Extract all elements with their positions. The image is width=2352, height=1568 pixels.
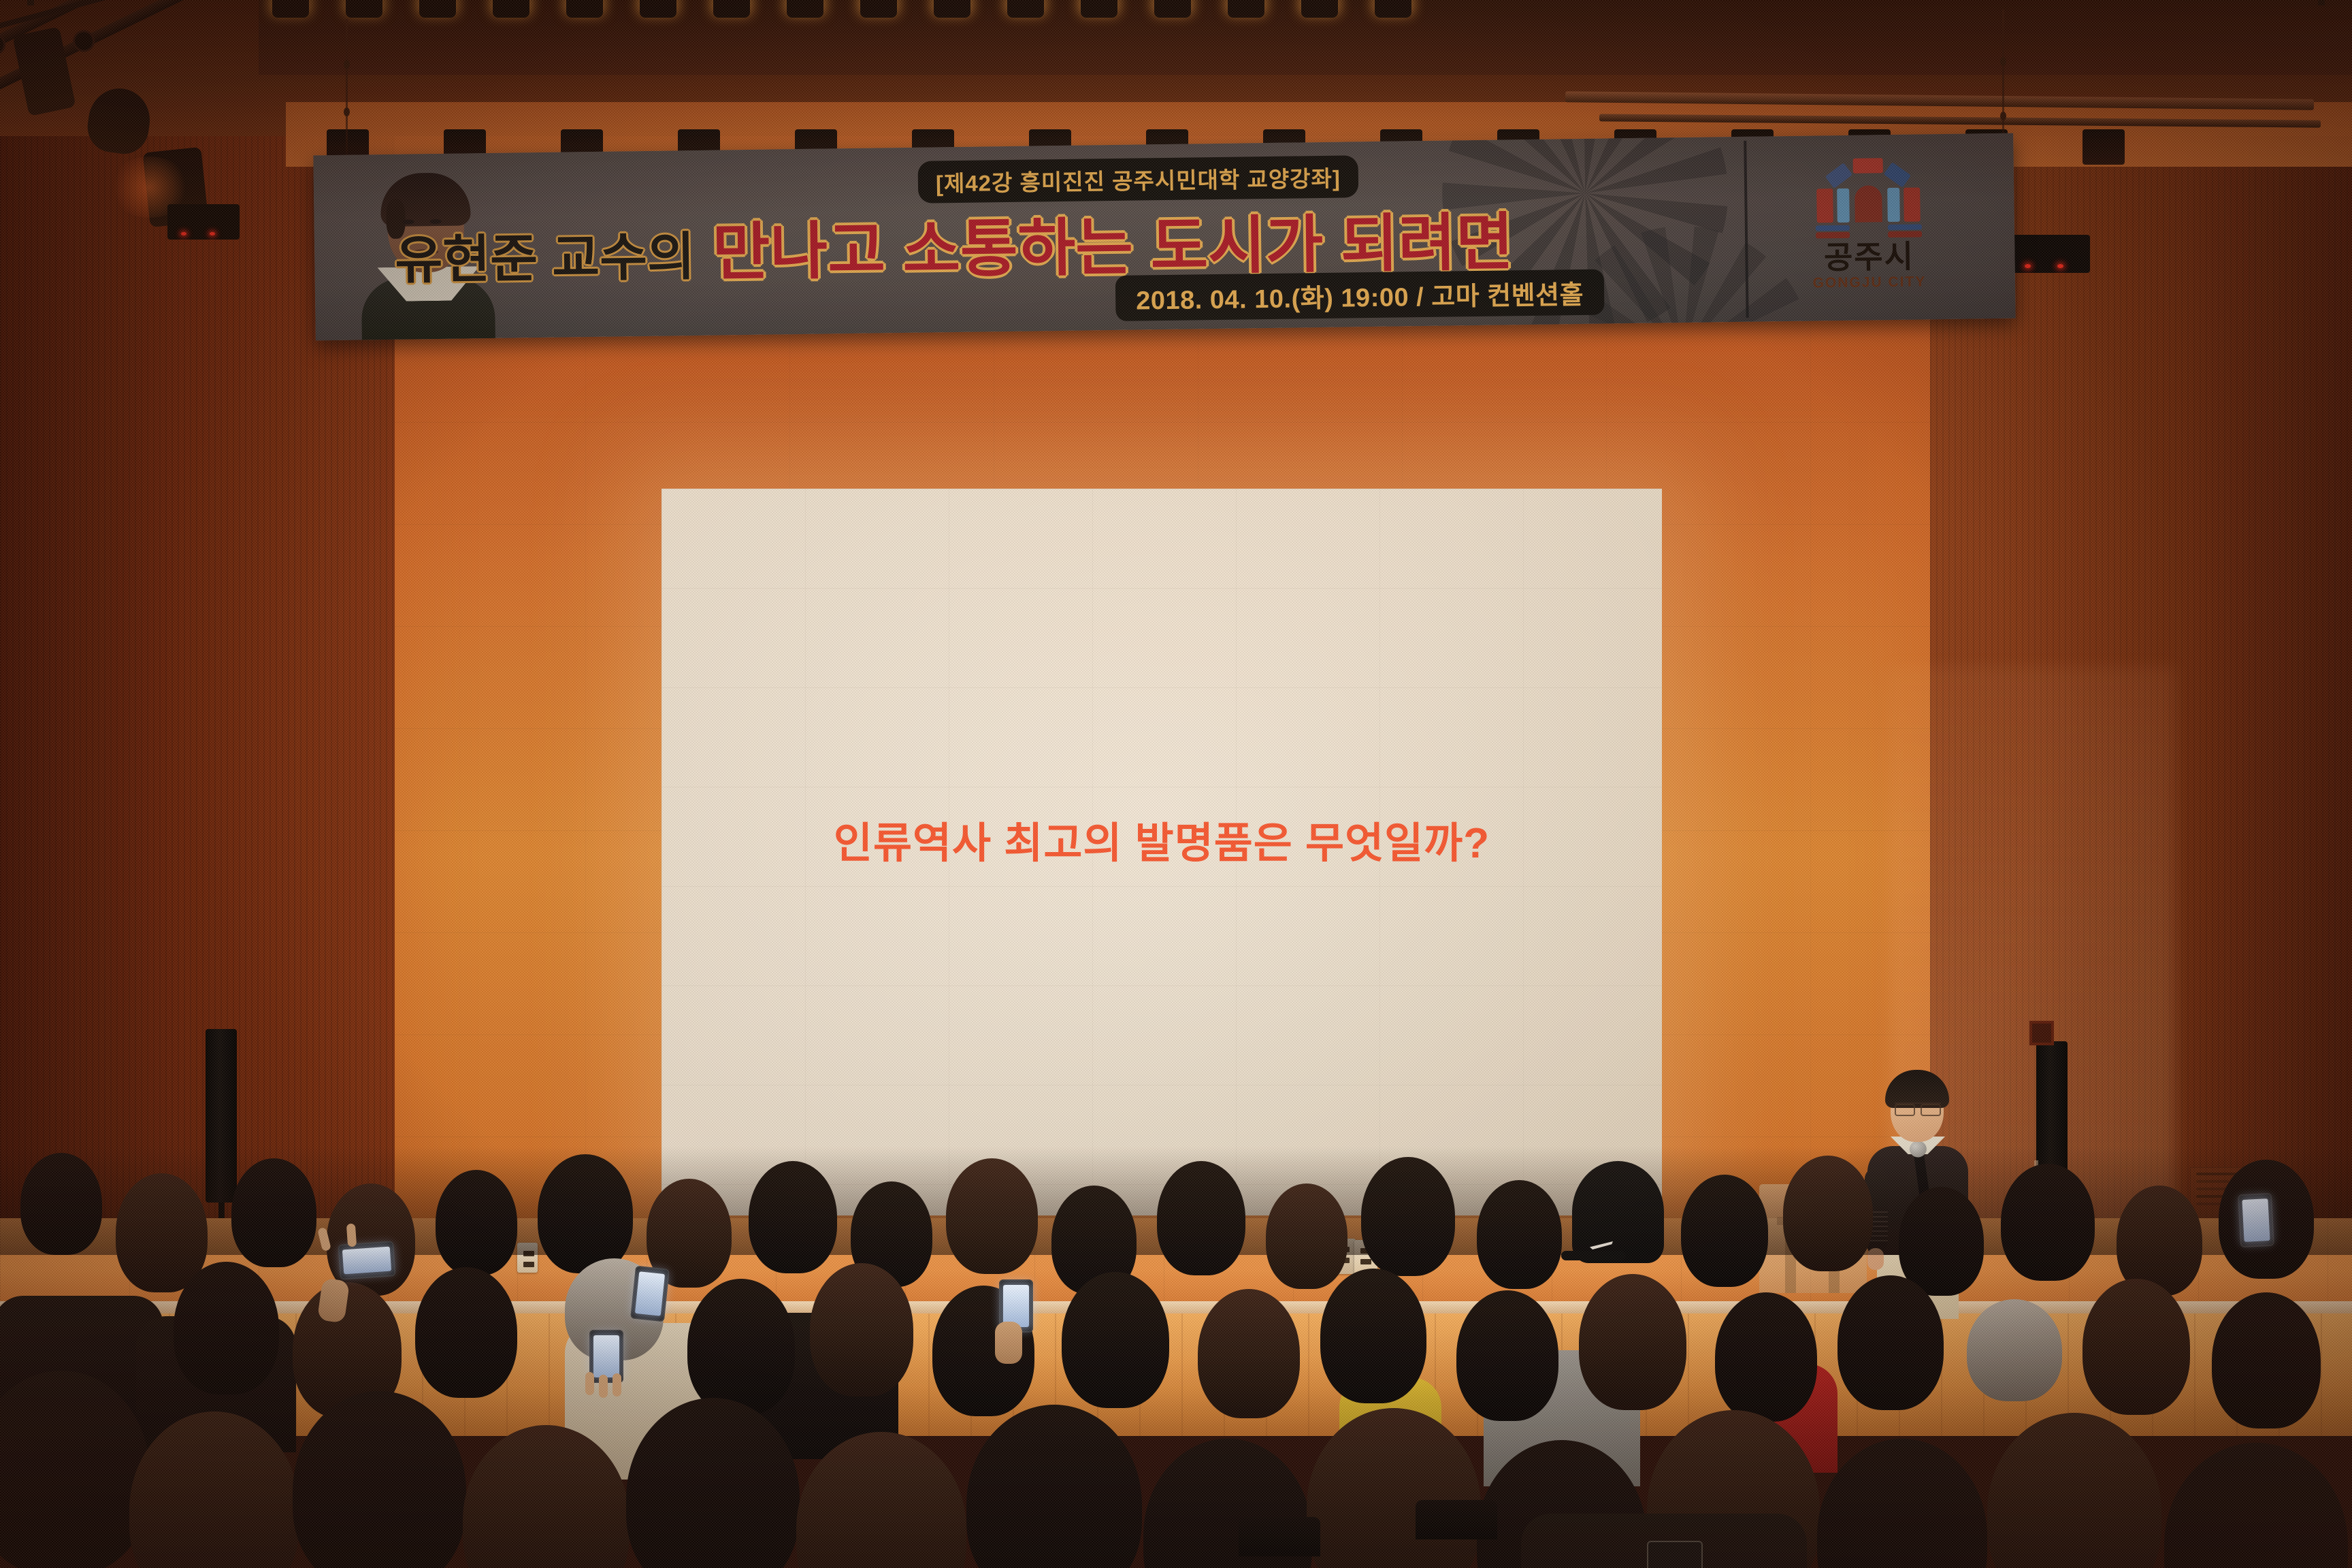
- audience-head: [1477, 1180, 1562, 1289]
- banner-title-dark: 유현준 교수의: [395, 214, 696, 293]
- swoosh-icon: [1590, 1241, 1613, 1249]
- ceiling-light-icon: [640, 0, 676, 18]
- logo-english-name: GONGJU CITY: [1812, 274, 1926, 291]
- logo-segment: [1837, 189, 1850, 223]
- glasses-icon: [1895, 1102, 1941, 1114]
- audience-chair: [1416, 1500, 1497, 1539]
- ceiling-light-icon: [419, 0, 456, 18]
- wire-bead: [2000, 112, 2006, 120]
- audience-head: [1783, 1156, 1873, 1271]
- audience-head: [687, 1279, 795, 1415]
- audience-head: [1266, 1183, 1347, 1289]
- audience-head-gray-hair: [1967, 1299, 2062, 1401]
- ceiling-light-icon: [493, 0, 529, 18]
- audience-head-front: [966, 1405, 1142, 1568]
- ceiling-light-icon: [272, 0, 309, 18]
- screen-vignette: [661, 489, 1662, 1215]
- ceiling-light-icon: [787, 0, 823, 18]
- phone-screen: [593, 1335, 619, 1377]
- ceiling-light-icon: [860, 0, 897, 18]
- logo-segment: [1825, 163, 1852, 189]
- wall-av-box-left: [167, 204, 240, 240]
- wall-av-box-right: [2008, 235, 2090, 273]
- ceiling-light-icon: [713, 0, 750, 18]
- downlight-icon: [2082, 129, 2125, 165]
- ceiling-light-icon: [1228, 0, 1264, 18]
- audience-head: [1837, 1275, 1944, 1410]
- logo-segment: [1853, 158, 1883, 174]
- audience-head: [1579, 1274, 1686, 1410]
- logo-segment: [1884, 162, 1911, 188]
- audience-head: [1681, 1175, 1768, 1287]
- wire-bead: [344, 60, 350, 69]
- audience-hand: [995, 1322, 1022, 1364]
- logo-segment: [1904, 187, 1921, 221]
- audience-head: [231, 1158, 316, 1267]
- slide-headline: 인류역사 최고의 발명품은 무엇일까?: [661, 808, 1662, 870]
- logo-segment: [1888, 231, 1922, 238]
- audience-head-front: [1817, 1439, 1987, 1568]
- audience-head: [1456, 1290, 1558, 1421]
- audience-head-front: [2164, 1443, 2348, 1568]
- logo-segment: [1816, 232, 1850, 239]
- audience-head: [20, 1153, 102, 1255]
- audience-head-front: [293, 1391, 466, 1568]
- ceiling-light-icon: [1154, 0, 1191, 18]
- logo-segment: [1888, 224, 1922, 230]
- logo-segment: [1816, 225, 1850, 231]
- phone-camera: [338, 1241, 395, 1280]
- wall-emergency-sign: [2029, 1021, 2054, 1045]
- logo-segment: [1816, 189, 1833, 223]
- ceiling-light-icon: [566, 0, 603, 18]
- audience-head: [1062, 1272, 1169, 1408]
- audience-head: [2001, 1164, 2095, 1281]
- logo-segment: [1855, 185, 1882, 223]
- status-led: [181, 232, 186, 235]
- ceiling-light-icon: [1081, 0, 1117, 18]
- audience-head: [1361, 1157, 1455, 1276]
- wire-bead: [344, 108, 350, 116]
- audience-head: [1198, 1289, 1300, 1418]
- phone-screen: [635, 1271, 665, 1316]
- ceiling-light-icon: [934, 0, 970, 18]
- audience-head: [327, 1183, 415, 1296]
- audience-head-front: [1307, 1408, 1481, 1568]
- phone-camera: [630, 1266, 670, 1322]
- audience-head: [174, 1262, 279, 1394]
- audience-head: [1157, 1161, 1245, 1275]
- ceiling-light-row: [272, 0, 2352, 20]
- audience-head: [1715, 1292, 1817, 1422]
- phone-screen: [342, 1247, 391, 1275]
- audience-head: [415, 1267, 517, 1398]
- ceiling-light-icon: [1301, 0, 1338, 18]
- banner-date-venue: 2018. 04. 10.(화) 19:00 / 고마 컨벤션홀: [1115, 269, 1605, 321]
- audience-head: [749, 1161, 837, 1273]
- banner-mount-bracket: [27, 0, 34, 5]
- audience-head: [538, 1154, 633, 1273]
- audience-head-front: [1987, 1413, 2161, 1568]
- audience-finger: [612, 1373, 621, 1396]
- auditorium-photo: [제42강 흥미진진 공주시민대학 교양강좌] 유현준 교수의 만나고 소통하는…: [0, 0, 2352, 1568]
- status-led: [210, 232, 215, 235]
- ceiling-light-icon: [1375, 0, 1411, 18]
- status-led: [2025, 264, 2031, 268]
- logo-korean-name: 공주시: [1824, 241, 1915, 274]
- ceiling-light-icon: [1007, 0, 1044, 18]
- phone-screen: [2242, 1198, 2270, 1242]
- audience-head: [2212, 1292, 2321, 1428]
- audience-head: [436, 1170, 517, 1275]
- phone-camera: [2238, 1193, 2274, 1248]
- logo-segment: [1887, 188, 1900, 222]
- ceiling-light-icon: [346, 0, 382, 18]
- audience-head-with-cap: [1572, 1161, 1664, 1263]
- wire-bead: [2000, 57, 2006, 66]
- status-led: [2057, 264, 2063, 268]
- audience-finger: [599, 1375, 608, 1398]
- audience-head: [2082, 1279, 2190, 1415]
- event-banner: [제42강 흥미진진 공주시민대학 교양강좌] 유현준 교수의 만나고 소통하는…: [313, 133, 2015, 341]
- banner-mount-bracket: [2318, 0, 2325, 5]
- projection-screen: 인류역사 최고의 발명품은 무엇일까?: [661, 489, 1662, 1215]
- audience: Weizen Haus: [0, 1146, 2352, 1568]
- audience-finger: [585, 1372, 594, 1395]
- gongju-city-logo: 공주시 GONGJU CITY: [1766, 157, 1972, 304]
- audience-chair: [1239, 1517, 1320, 1556]
- audience-head: [946, 1158, 1038, 1274]
- tshirt-logo-badge: [1647, 1541, 1703, 1568]
- logo-arch-icon: [1815, 157, 1923, 239]
- audience-head: [1320, 1269, 1426, 1403]
- phone-screen: [1003, 1285, 1029, 1327]
- audience-head: [810, 1263, 913, 1396]
- audience-head: [1899, 1187, 1984, 1296]
- audience-finger: [346, 1224, 357, 1247]
